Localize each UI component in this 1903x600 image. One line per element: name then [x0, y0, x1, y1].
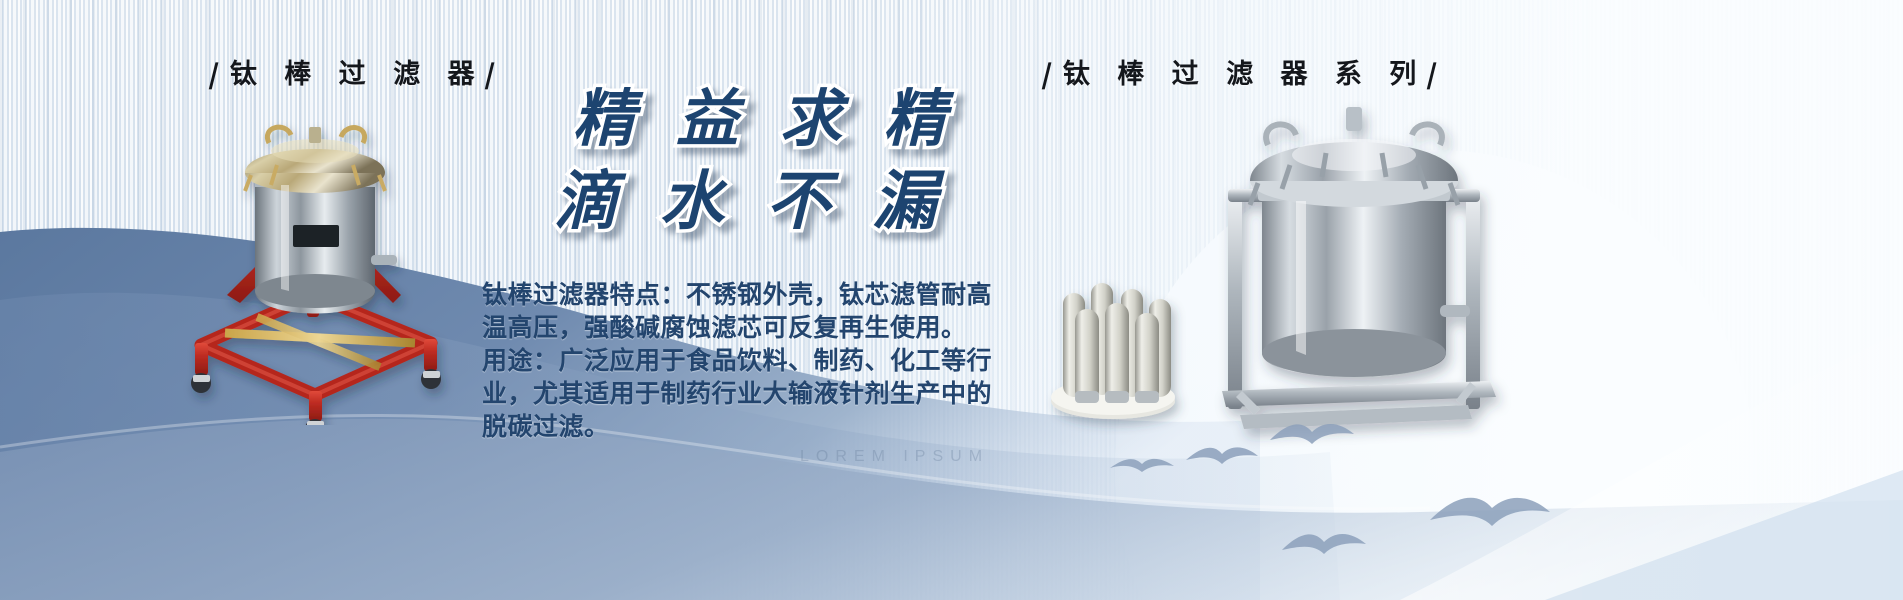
- chip-text-left: 钛 棒 过 滤 器: [230, 59, 484, 90]
- headline-line-1: 精 益 求 精: [470, 78, 1030, 160]
- body-line-3: 用途：广泛应用于食品饮料、制药、化工等行: [482, 344, 994, 377]
- product-banner: |钛 棒 过 滤 器| |钛 棒 过 滤 器 系 列| 精 益 求 精 滴 水 …: [0, 0, 1903, 600]
- birds-decoration: [1100, 400, 1660, 595]
- body-line-4: 业，尤其适用于制药行业大输液针剂生产中的: [482, 377, 994, 410]
- product-image-left: [165, 95, 465, 425]
- body-line-2: 温高压，强酸碱腐蚀滤芯可反复再生使用。: [482, 311, 994, 344]
- chip-bar-open-left: |: [205, 59, 232, 90]
- chip-bar-close-right: |: [1423, 59, 1450, 90]
- chip-text-right: 钛 棒 过 滤 器 系 列: [1063, 59, 1425, 90]
- body-line-1: 钛棒过滤器特点：不锈钢外壳，钛芯滤管耐高: [482, 278, 994, 311]
- chip-bar-close-left: |: [482, 59, 509, 90]
- chip-label-right: |钛 棒 过 滤 器 系 列|: [1040, 52, 1448, 91]
- headline-line-2: 滴 水 不 漏: [470, 160, 1030, 244]
- chip-bar-open-right: |: [1038, 59, 1065, 90]
- body-line-5: 脱碳过滤。: [482, 410, 994, 443]
- headline-block: 精 益 求 精 滴 水 不 漏: [470, 78, 1030, 244]
- chip-label-left: |钛 棒 过 滤 器|: [207, 52, 506, 91]
- watermark-text: LOREM IPSUM: [800, 448, 989, 466]
- body-copy-block: 钛棒过滤器特点：不锈钢外壳，钛芯滤管耐高 温高压，强酸碱腐蚀滤芯可反复再生使用。…: [482, 278, 994, 443]
